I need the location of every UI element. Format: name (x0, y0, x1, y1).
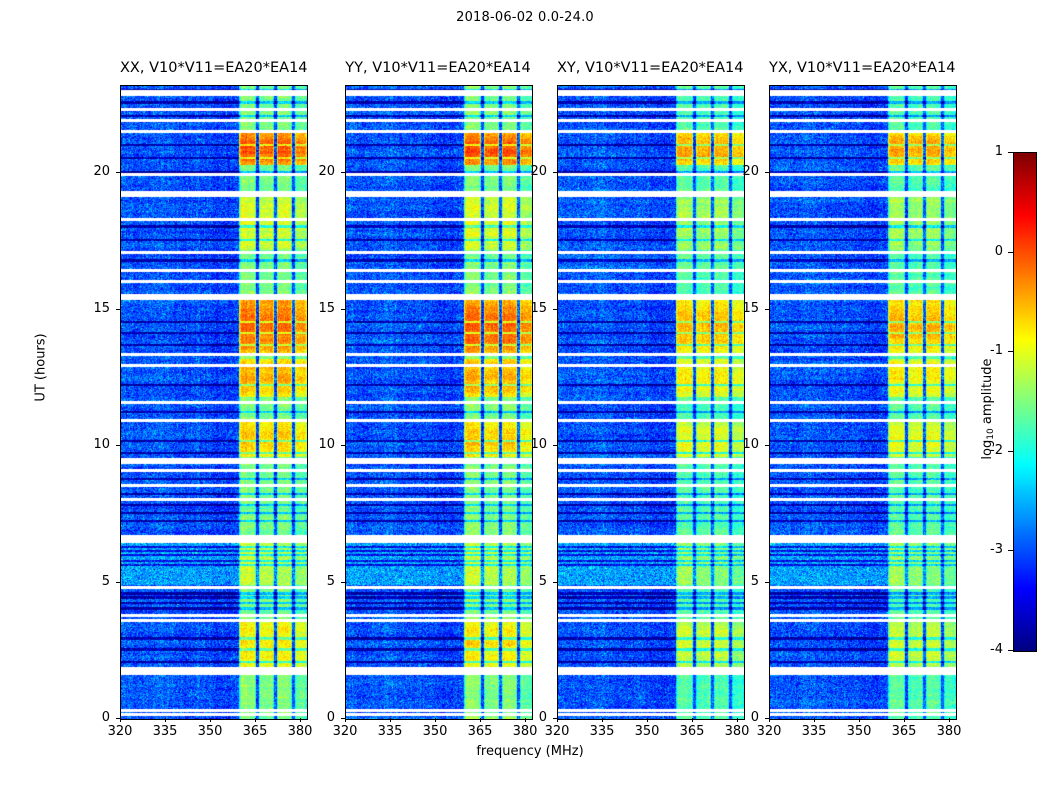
x-tick-label: 335 (143, 724, 187, 739)
x-tick-mark (210, 718, 211, 722)
x-tick-label: 365 (233, 724, 277, 739)
y-tick-mark (553, 582, 557, 583)
y-tick-mark (116, 445, 120, 446)
y-tick-label: 5 (719, 574, 759, 589)
panel-title-yy: YY, V10*V11=EA20*EA14 (345, 60, 531, 76)
colorbar-tick-mark (1008, 351, 1013, 352)
x-tick-label: 320 (747, 724, 791, 739)
colorbar-tick-mark (1008, 152, 1013, 153)
y-tick-mark (116, 582, 120, 583)
figure-suptitle: 2018-06-02 0.0-24.0 (0, 10, 1050, 25)
x-tick-mark (345, 718, 346, 722)
x-axis-label: frequency (MHz) (430, 744, 630, 759)
y-tick-mark (765, 309, 769, 310)
x-tick-mark (769, 718, 770, 722)
x-tick-label: 380 (927, 724, 971, 739)
colorbar-tick-label: -2 (969, 443, 1003, 458)
colorbar-tick-label: -3 (969, 542, 1003, 557)
y-tick-mark (341, 718, 345, 719)
x-tick-label: 320 (535, 724, 579, 739)
y-tick-mark (341, 582, 345, 583)
colorbar-tick-mark (1008, 650, 1013, 651)
y-tick-mark (765, 718, 769, 719)
y-axis-label: UT (hours) (34, 308, 49, 428)
colorbar-tick-label: -4 (969, 642, 1003, 657)
y-tick-mark (341, 172, 345, 173)
colorbar-gradient (1014, 153, 1036, 651)
x-tick-label: 365 (882, 724, 926, 739)
x-tick-label: 350 (625, 724, 669, 739)
x-tick-label: 350 (188, 724, 232, 739)
colorbar-tick-label: 1 (969, 144, 1003, 159)
y-tick-label: 15 (507, 301, 547, 316)
panel-title-yx: YX, V10*V11=EA20*EA14 (769, 60, 955, 76)
y-tick-mark (341, 309, 345, 310)
colorbar-tick-mark (1008, 252, 1013, 253)
colorbar-tick-label: 0 (969, 244, 1003, 259)
colorbar-tick-mark (1008, 550, 1013, 551)
x-tick-mark (255, 718, 256, 722)
figure-canvas: 2018-06-02 0.0-24.0 XX, V10*V11=EA20*EA1… (0, 0, 1050, 800)
y-tick-mark (116, 172, 120, 173)
y-tick-label: 10 (507, 437, 547, 452)
spectrum-image (558, 86, 744, 719)
x-tick-label: 320 (98, 724, 142, 739)
x-tick-mark (480, 718, 481, 722)
x-tick-mark (814, 718, 815, 722)
panel-title-xy: XY, V10*V11=EA20*EA14 (557, 60, 743, 76)
spectrum-panel-xx[interactable] (120, 85, 308, 720)
x-tick-mark (692, 718, 693, 722)
colorbar-tick-label: -1 (969, 343, 1003, 358)
x-tick-label: 320 (323, 724, 367, 739)
y-tick-mark (765, 445, 769, 446)
y-tick-mark (553, 718, 557, 719)
y-tick-label: 20 (507, 164, 547, 179)
y-tick-label: 10 (70, 437, 110, 452)
y-tick-label: 5 (507, 574, 547, 589)
x-tick-label: 350 (413, 724, 457, 739)
spectrum-image (121, 86, 307, 719)
y-tick-label: 5 (70, 574, 110, 589)
colorbar-label-suffix: amplitude (980, 358, 995, 428)
y-tick-label: 10 (295, 437, 335, 452)
x-tick-label: 335 (368, 724, 412, 739)
x-tick-label: 365 (670, 724, 714, 739)
x-tick-mark (647, 718, 648, 722)
y-tick-label: 15 (70, 301, 110, 316)
colorbar[interactable] (1013, 152, 1037, 652)
y-tick-label: 20 (295, 164, 335, 179)
x-tick-mark (165, 718, 166, 722)
x-tick-label: 365 (458, 724, 502, 739)
x-tick-mark (390, 718, 391, 722)
x-tick-mark (949, 718, 950, 722)
x-tick-label: 335 (580, 724, 624, 739)
colorbar-tick-mark (1008, 451, 1013, 452)
x-tick-mark (904, 718, 905, 722)
y-tick-mark (341, 445, 345, 446)
x-tick-label: 350 (837, 724, 881, 739)
y-tick-label: 15 (295, 301, 335, 316)
y-tick-label: 0 (70, 710, 110, 725)
y-tick-label: 0 (295, 710, 335, 725)
colorbar-label-sub: 10 (986, 428, 996, 439)
spectrum-image (770, 86, 956, 719)
panel-title-xx: XX, V10*V11=EA20*EA14 (120, 60, 306, 76)
y-tick-label: 20 (719, 164, 759, 179)
y-tick-mark (765, 172, 769, 173)
y-tick-label: 20 (70, 164, 110, 179)
y-tick-mark (765, 582, 769, 583)
y-tick-mark (116, 718, 120, 719)
x-tick-label: 380 (278, 724, 322, 739)
y-tick-label: 0 (507, 710, 547, 725)
y-tick-label: 0 (719, 710, 759, 725)
x-tick-mark (435, 718, 436, 722)
y-tick-label: 10 (719, 437, 759, 452)
y-tick-mark (553, 445, 557, 446)
spectrum-panel-yy[interactable] (345, 85, 533, 720)
y-tick-mark (553, 172, 557, 173)
x-tick-mark (602, 718, 603, 722)
y-tick-label: 15 (719, 301, 759, 316)
x-tick-mark (120, 718, 121, 722)
spectrum-panel-xy[interactable] (557, 85, 745, 720)
spectrum-image (346, 86, 532, 719)
x-tick-mark (557, 718, 558, 722)
y-tick-label: 5 (295, 574, 335, 589)
x-tick-label: 335 (792, 724, 836, 739)
spectrum-panel-yx[interactable] (769, 85, 957, 720)
y-tick-mark (116, 309, 120, 310)
x-tick-mark (859, 718, 860, 722)
y-tick-mark (553, 309, 557, 310)
